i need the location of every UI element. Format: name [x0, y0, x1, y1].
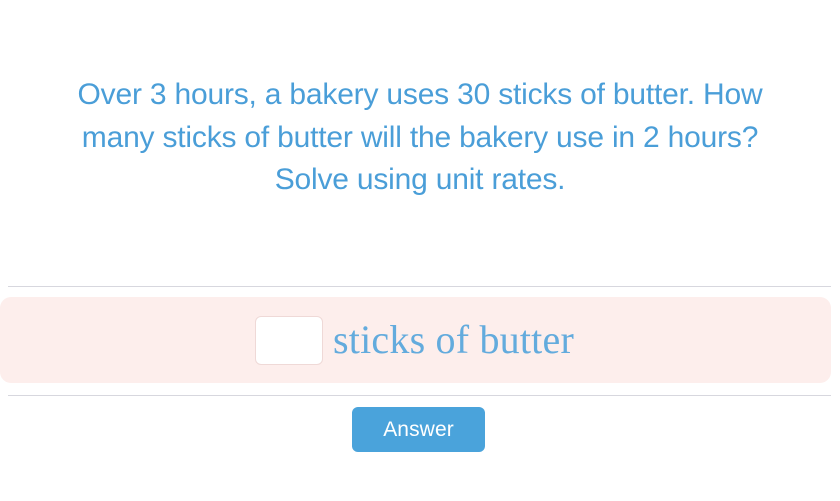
- divider-above-answer: [8, 286, 831, 287]
- question-block: Over 3 hours, a bakery uses 30 sticks of…: [0, 74, 840, 202]
- answer-unit-label: sticks of butter: [333, 318, 574, 362]
- answer-row: sticks of butter: [255, 316, 574, 365]
- answer-input-area: sticks of butter: [0, 297, 831, 383]
- exercise-screen: Over 3 hours, a bakery uses 30 sticks of…: [0, 0, 840, 501]
- divider-below-answer: [8, 395, 831, 396]
- answer-input[interactable]: [255, 316, 323, 365]
- question-text: Over 3 hours, a bakery uses 30 sticks of…: [50, 74, 790, 202]
- answer-submit-button[interactable]: Answer: [352, 407, 485, 452]
